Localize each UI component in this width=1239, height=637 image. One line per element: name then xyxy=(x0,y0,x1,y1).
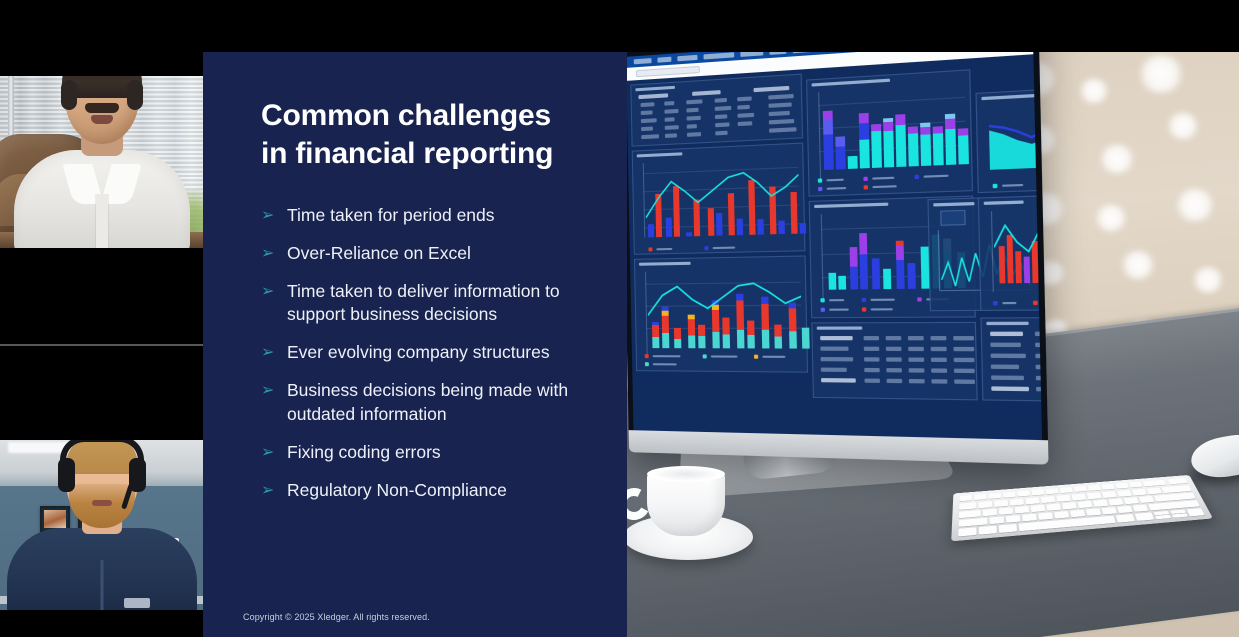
bullet-text: Time taken to deliver information to sup… xyxy=(287,281,560,324)
slide-title-line-1: Common challenges xyxy=(261,99,551,132)
arrow-bullet-icon: ➢ xyxy=(261,442,274,463)
bullet-text: Over-Reliance on Excel xyxy=(287,243,471,263)
dashboard-chart-panel xyxy=(806,69,973,196)
bullet-text: Time taken for period ends xyxy=(287,205,495,225)
arrow-bullet-icon: ➢ xyxy=(261,480,274,501)
dashboard-table-panel xyxy=(630,74,803,147)
arrow-bullet-icon: ➢ xyxy=(261,243,274,264)
slide-bullet-list: ➢ Time taken for period ends ➢ Over-Reli… xyxy=(261,204,587,517)
arrow-bullet-icon: ➢ xyxy=(261,342,274,363)
bullet-item: ➢ Regulatory Non-Compliance xyxy=(261,479,587,502)
participant-strip xyxy=(0,0,203,637)
participant-strip-divider xyxy=(0,344,203,346)
dashboard-chart-panel xyxy=(634,255,808,372)
slide-text-panel: Common challenges in financial reporting… xyxy=(203,52,625,637)
bi-dashboard xyxy=(626,52,1042,440)
bullet-text: Ever evolving company structures xyxy=(287,342,550,362)
participant-tile-2[interactable] xyxy=(0,440,203,610)
bullet-item: ➢ Time taken for period ends xyxy=(261,204,587,227)
bullet-item: ➢ Time taken to deliver information to s… xyxy=(261,280,587,326)
presentation-slide[interactable]: Common challenges in financial reporting… xyxy=(203,52,1239,637)
bullet-text: Regulatory Non-Compliance xyxy=(287,480,507,500)
copyright-notice: Copyright © 2025 Xledger. All rights res… xyxy=(243,612,430,622)
dashboard-table-panel xyxy=(980,317,1042,403)
bullet-text: Business decisions being made with outda… xyxy=(287,380,568,423)
dashboard-table-panel xyxy=(811,322,977,401)
participant-1-video xyxy=(0,76,203,248)
participant-2-video xyxy=(0,440,203,610)
slide-title: Common challenges in financial reporting xyxy=(261,97,601,173)
arrow-bullet-icon: ➢ xyxy=(261,380,274,401)
slide-photo xyxy=(625,52,1239,637)
bullet-item: ➢ Over-Reliance on Excel xyxy=(261,242,587,265)
cup-rim xyxy=(647,466,725,482)
arrow-bullet-icon: ➢ xyxy=(261,281,274,302)
imac-display xyxy=(625,52,1049,465)
dashboard-chart-panel xyxy=(978,193,1042,311)
bullet-item: ➢ Ever evolving company structures xyxy=(261,341,587,364)
bullet-item: ➢ Business decisions being made with out… xyxy=(261,379,587,425)
dashboard-chart-panel xyxy=(975,85,1042,193)
dashboard-chart-panel xyxy=(632,143,806,255)
bullet-item: ➢ Fixing coding errors xyxy=(261,441,587,464)
bullet-text: Fixing coding errors xyxy=(287,442,441,462)
screen-share-stage: Common challenges in financial reporting… xyxy=(0,0,1239,637)
participant-tile-1[interactable] xyxy=(0,76,203,248)
slide-title-line-2: in financial reporting xyxy=(261,137,553,170)
arrow-bullet-icon: ➢ xyxy=(261,205,274,226)
